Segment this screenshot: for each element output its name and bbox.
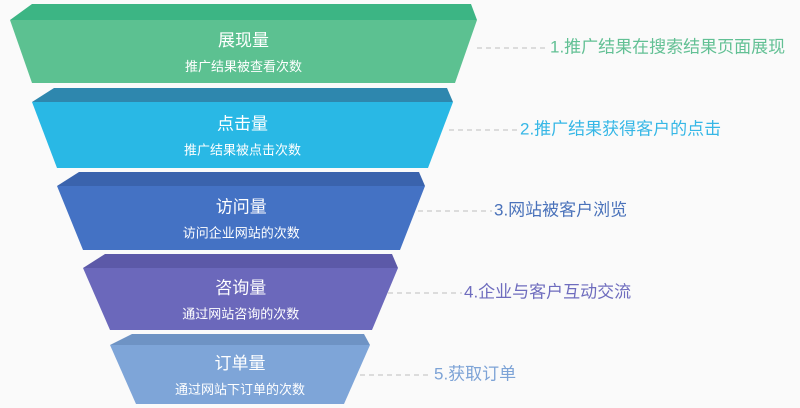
funnel-stage-4-subtitle: 通过网站咨询的次数 xyxy=(182,306,299,321)
funnel-stage-2-subtitle: 推广结果被点击次数 xyxy=(184,142,301,157)
funnel-stage-3-callout: 3.网站被客户浏览 xyxy=(494,200,627,219)
funnel-stage-4[interactable]: 咨询量通过网站咨询的次数4.企业与客户互动交流 xyxy=(83,254,631,330)
funnel-stage-5[interactable]: 订单量通过网站下订单的次数5.获取订单 xyxy=(110,334,516,404)
funnel-stage-2-callout: 2.推广结果获得客户的点击 xyxy=(520,119,721,138)
funnel-stage-3-top-band xyxy=(57,172,425,186)
funnel-stage-1-callout: 1.推广结果在搜索结果页面展现 xyxy=(550,37,785,56)
funnel-stage-2-title: 点击量 xyxy=(217,114,268,133)
funnel-stage-2-top-band xyxy=(32,88,453,102)
funnel-stage-4-callout: 4.企业与客户互动交流 xyxy=(464,282,631,301)
funnel-stage-3[interactable]: 访问量访问企业网站的次数3.网站被客户浏览 xyxy=(57,172,627,250)
funnel-stage-1-top-band xyxy=(10,4,477,20)
funnel-stage-5-callout: 5.获取订单 xyxy=(434,364,516,383)
funnel-stage-5-subtitle: 通过网站下订单的次数 xyxy=(175,382,305,397)
funnel-stage-1-subtitle: 推广结果被查看次数 xyxy=(185,59,302,74)
funnel-stage-5-title: 订单量 xyxy=(215,354,266,373)
funnel-stage-4-top-band xyxy=(83,254,398,268)
funnel-stage-2[interactable]: 点击量推广结果被点击次数2.推广结果获得客户的点击 xyxy=(32,88,721,168)
funnel-stage-3-subtitle: 访问企业网站的次数 xyxy=(183,225,300,240)
funnel-canvas: 展现量推广结果被查看次数1.推广结果在搜索结果页面展现点击量推广结果被点击次数2… xyxy=(0,0,800,408)
funnel-stage-5-top-band xyxy=(110,334,370,345)
funnel-stage-4-title: 咨询量 xyxy=(215,278,266,297)
funnel-stage-2-body[interactable] xyxy=(32,102,453,168)
funnel-diagram: 展现量推广结果被查看次数1.推广结果在搜索结果页面展现点击量推广结果被点击次数2… xyxy=(0,0,800,408)
funnel-stage-1[interactable]: 展现量推广结果被查看次数1.推广结果在搜索结果页面展现 xyxy=(10,4,785,83)
funnel-stage-3-title: 访问量 xyxy=(216,197,267,216)
funnel-stage-1-title: 展现量 xyxy=(218,31,269,50)
